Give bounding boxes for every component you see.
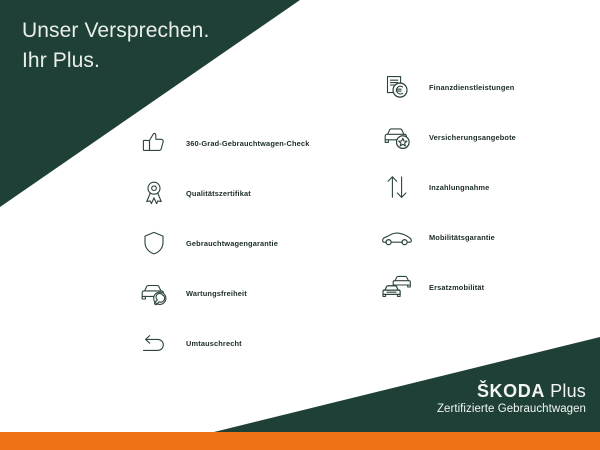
page-title: Unser Versprechen. Ihr Plus.: [22, 16, 209, 76]
feature-item-replacement-mobility: Ersatzmobilität: [374, 262, 516, 312]
car-wrench-icon: [131, 272, 177, 314]
skoda-wordmark: ŠKODA: [477, 381, 545, 401]
arrows-up-down-icon: [374, 166, 420, 208]
feature-list-left: 360-Grad-Gebrauchtwagen-Check Qualitätsz…: [131, 118, 309, 368]
u-turn-arrow-icon: [131, 322, 177, 364]
feature-label: Finanzdienstleistungen: [429, 83, 514, 92]
feature-label: Umtauschrecht: [186, 339, 242, 348]
brand-plus-label: Plus: [550, 381, 586, 401]
feature-label: Qualitätszertifikat: [186, 189, 251, 198]
feature-item-trade-in: Inzahlungnahme: [374, 162, 516, 212]
brand-title: ŠKODA Plus: [437, 381, 586, 401]
feature-item-mobility-guarantee: Mobilitätsgarantie: [374, 212, 516, 262]
feature-label: Ersatzmobilität: [429, 283, 484, 292]
feature-label: Inzahlungnahme: [429, 183, 489, 192]
feature-item-financial-services: Finanzdienstleistungen: [374, 62, 516, 112]
feature-label: Wartungsfreiheit: [186, 289, 247, 298]
promo-banner: Unser Versprechen. Ihr Plus. 360-Grad-Ge…: [0, 0, 600, 450]
feature-item-return-right: Umtauschrecht: [131, 318, 309, 368]
orange-bottom-bar: [0, 432, 600, 450]
feature-item-quality-certificate: Qualitätszertifikat: [131, 168, 309, 218]
feature-label: Mobilitätsgarantie: [429, 233, 495, 242]
brand-subtitle: Zertifizierte Gebrauchtwagen: [437, 402, 586, 417]
car-side-icon: [374, 216, 420, 258]
feature-item-360-check: 360-Grad-Gebrauchtwagen-Check: [131, 118, 309, 168]
document-euro-icon: [374, 66, 420, 108]
shield-icon: [131, 222, 177, 264]
feature-item-insurance-offers: Versicherungsangebote: [374, 112, 516, 162]
headline-line-2: Ihr Plus.: [22, 46, 209, 76]
feature-label: Versicherungsangebote: [429, 133, 516, 142]
award-ribbon-icon: [131, 172, 177, 214]
feature-list-right: Finanzdienstleistungen Versicherungsange…: [374, 62, 516, 312]
thumbs-up-icon: [131, 122, 177, 164]
feature-label: 360-Grad-Gebrauchtwagen-Check: [186, 139, 309, 148]
brand-lockup: ŠKODA Plus Zertifizierte Gebrauchtwagen: [437, 381, 586, 417]
car-star-icon: [374, 116, 420, 158]
feature-item-maintenance-free: Wartungsfreiheit: [131, 268, 309, 318]
headline-line-1: Unser Versprechen.: [22, 19, 209, 42]
feature-item-warranty: Gebrauchtwagengarantie: [131, 218, 309, 268]
two-cars-icon: [374, 266, 420, 308]
feature-label: Gebrauchtwagengarantie: [186, 239, 278, 248]
